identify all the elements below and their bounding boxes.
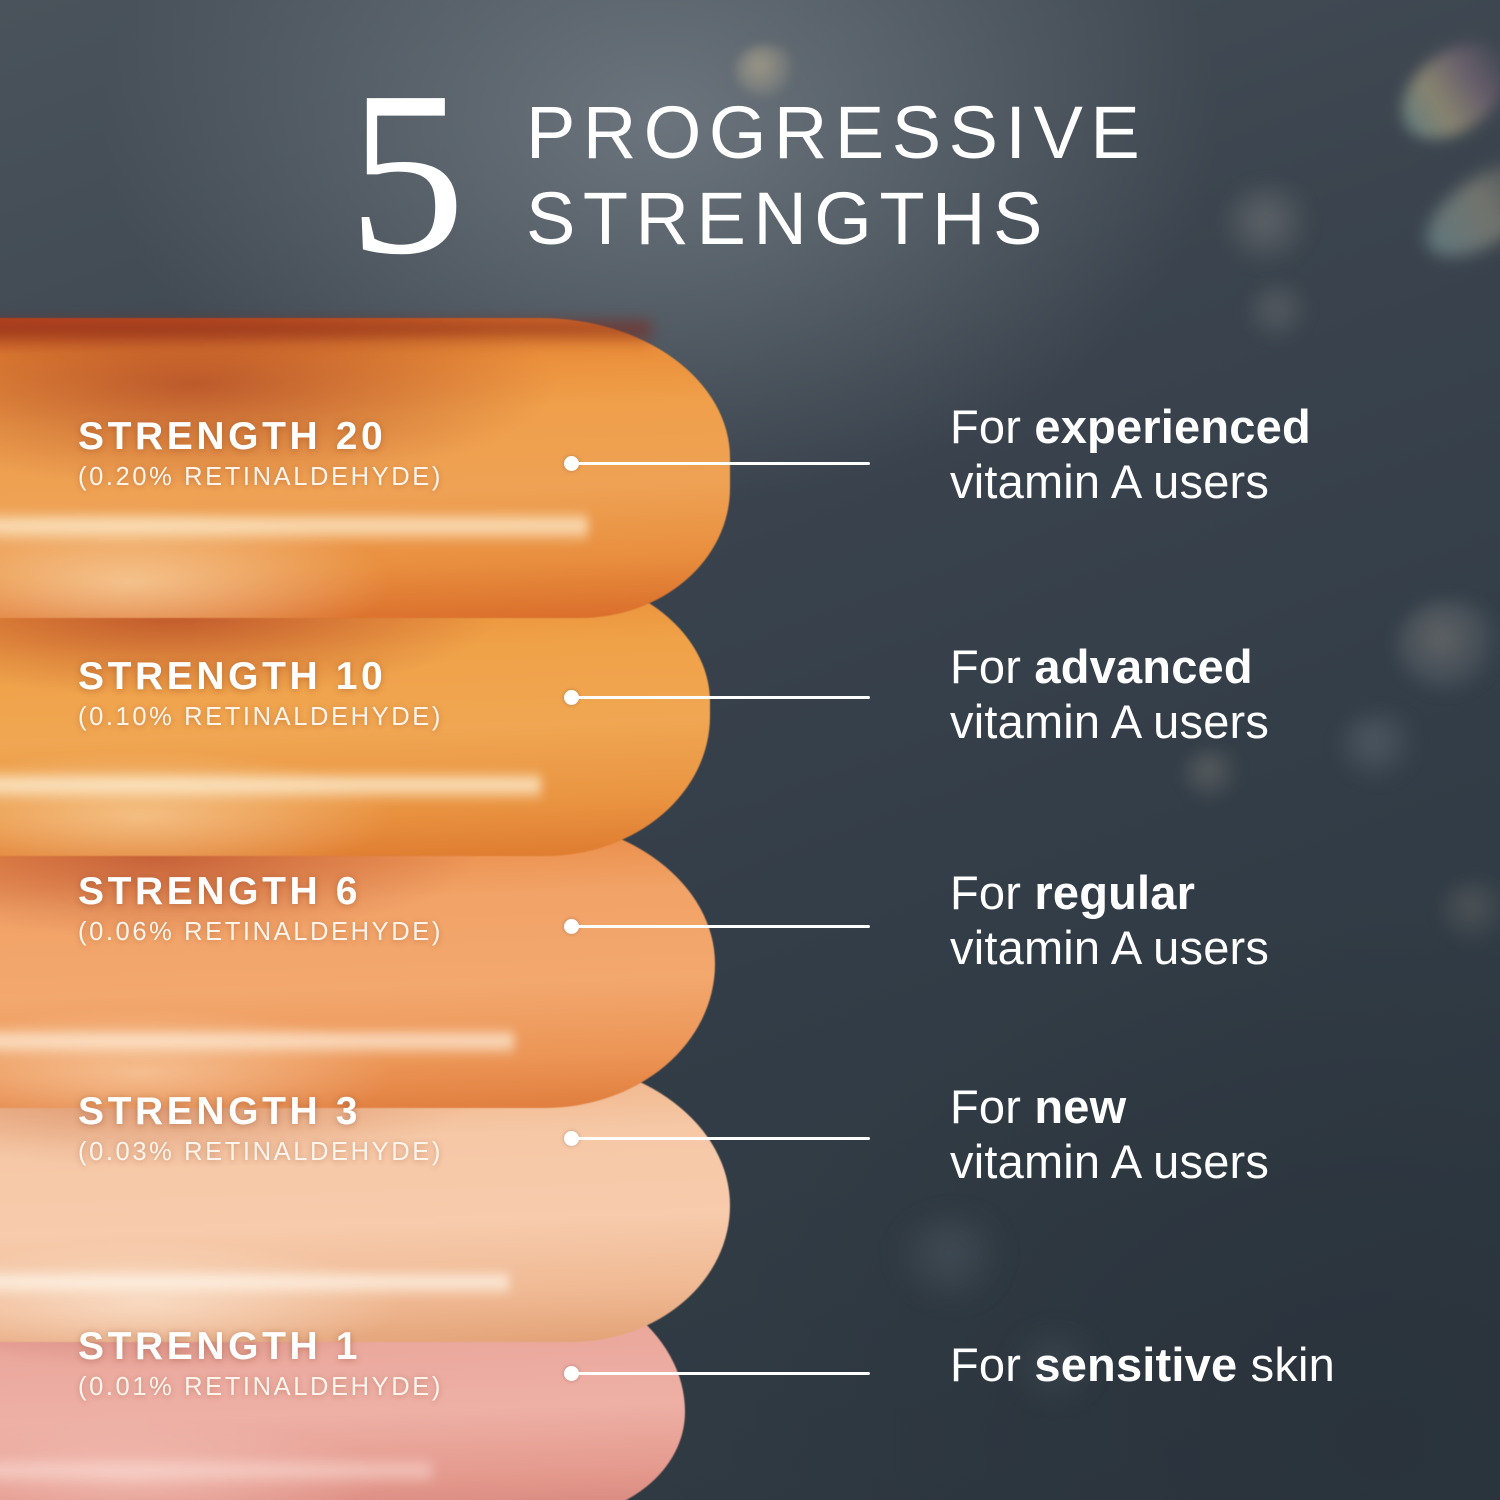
- label-strength-3: STRENGTH 3 (0.03% RETINALDEHYDE): [78, 1092, 443, 1169]
- bokeh-flare-icon: [1338, 712, 1424, 782]
- connector-line: [575, 925, 870, 928]
- headline-text: PROGRESSIVE STRENGTHS: [526, 90, 1147, 262]
- description-prefix: For: [950, 640, 1021, 693]
- strength-concentration: (0.20% RETINALDEHYDE): [78, 462, 443, 494]
- headline-number: 5: [348, 56, 464, 291]
- description-strength-6: For regular vitamin A users: [950, 866, 1269, 976]
- strength-concentration: (0.10% RETINALDEHYDE): [78, 702, 443, 734]
- description-line-1: For sensitive skin: [950, 1338, 1335, 1393]
- description-line-1: For regular: [950, 866, 1269, 921]
- connector-strength-3: [564, 1127, 870, 1147]
- label-strength-10: STRENGTH 10 (0.10% RETINALDEHYDE): [78, 657, 443, 734]
- connector-strength-10: [564, 686, 870, 706]
- description-strength-1: For sensitive skin: [950, 1338, 1335, 1393]
- description-prefix: For: [950, 1080, 1021, 1133]
- infographic-stage: 5 PROGRESSIVE STRENGTHS STRENGTH 20 (0.2…: [0, 0, 1500, 1500]
- description-line-2: vitamin A users: [950, 921, 1269, 976]
- label-strength-20: STRENGTH 20 (0.20% RETINALDEHYDE): [78, 417, 443, 494]
- description-strength-3: For new vitamin A users: [950, 1080, 1269, 1190]
- bokeh-flare-icon: [1440, 880, 1500, 944]
- connector-line: [575, 1372, 870, 1375]
- strength-name: STRENGTH 1: [78, 1327, 443, 1367]
- connector-line: [575, 1137, 870, 1140]
- bokeh-flare-icon: [1245, 283, 1315, 341]
- strength-concentration: (0.01% RETINALDEHYDE): [78, 1372, 443, 1404]
- headline-line-2: STRENGTHS: [526, 176, 1147, 262]
- connector-strength-6: [564, 915, 870, 935]
- connector-line: [575, 462, 870, 465]
- bokeh-flare-icon: [1222, 185, 1318, 265]
- bokeh-flare-icon: [1182, 748, 1244, 802]
- description-emphasis: experienced: [1034, 400, 1311, 453]
- description-emphasis: advanced: [1034, 640, 1252, 693]
- description-emphasis: sensitive: [1034, 1338, 1237, 1391]
- strength-name: STRENGTH 20: [78, 417, 443, 457]
- connector-strength-1: [564, 1362, 870, 1382]
- strength-name: STRENGTH 10: [78, 657, 443, 697]
- label-strength-6: STRENGTH 6 (0.06% RETINALDEHYDE): [78, 872, 443, 949]
- connector-strength-20: [564, 452, 870, 472]
- strength-concentration: (0.06% RETINALDEHYDE): [78, 917, 443, 949]
- description-line-1: For experienced: [950, 400, 1311, 455]
- description-line-2: vitamin A users: [950, 455, 1311, 510]
- description-emphasis: regular: [1034, 866, 1195, 919]
- strength-concentration: (0.03% RETINALDEHYDE): [78, 1137, 443, 1169]
- description-prefix: For: [950, 400, 1021, 453]
- description-prefix: For: [950, 1338, 1021, 1391]
- description-line-2: vitamin A users: [950, 695, 1269, 750]
- description-strength-10: For advanced vitamin A users: [950, 640, 1269, 750]
- description-strength-20: For experienced vitamin A users: [950, 400, 1311, 510]
- bokeh-flare-icon: [1396, 600, 1500, 692]
- label-strength-1: STRENGTH 1 (0.01% RETINALDEHYDE): [78, 1327, 443, 1404]
- description-line-1: For advanced: [950, 640, 1269, 695]
- description-line-1: For new: [950, 1080, 1269, 1135]
- description-emphasis: new: [1034, 1080, 1126, 1133]
- connector-line: [575, 696, 870, 699]
- strength-name: STRENGTH 6: [78, 872, 443, 912]
- swatch-strength-6: [0, 818, 715, 1108]
- page-title: 5 PROGRESSIVE STRENGTHS: [348, 62, 1218, 272]
- description-prefix: For: [950, 866, 1021, 919]
- bokeh-flare-icon: [1384, 23, 1500, 158]
- headline-line-1: PROGRESSIVE: [526, 90, 1147, 176]
- bokeh-flare-icon: [895, 1215, 1015, 1301]
- bokeh-flare-icon: [1411, 143, 1500, 275]
- description-suffix: skin: [1251, 1338, 1335, 1391]
- strength-name: STRENGTH 3: [78, 1092, 443, 1132]
- description-line-2: vitamin A users: [950, 1135, 1269, 1190]
